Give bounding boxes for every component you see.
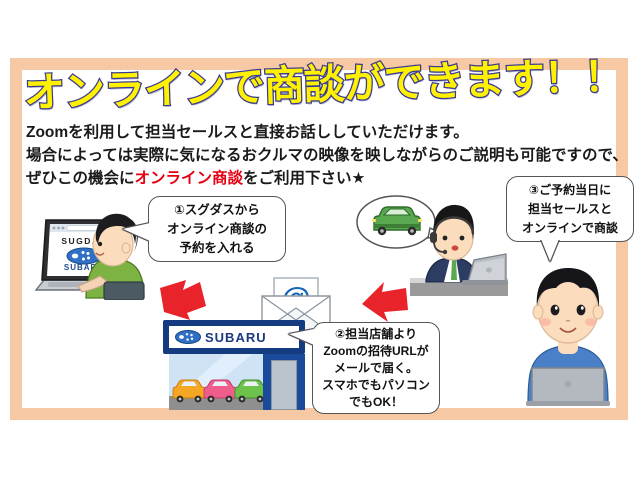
bubble-tail-step3 xyxy=(541,239,559,261)
body-line-2: 場合によっては実際に気になるおクルマの映像を映しながらのご説明も可能ですので、 xyxy=(26,144,606,167)
bubble-step1-line-2: オンライン商談の xyxy=(149,220,285,239)
bubble-tail-step1 xyxy=(123,223,150,241)
illustration-person-laptop: SUGDAS SUBARU xyxy=(22,196,154,300)
speech-bubble-step2: ②担当店舗より Zoomの招待URLが メールで届く。 スマホでもパソコン でも… xyxy=(312,322,440,414)
body-line-3-pre: ぜひこの機会に xyxy=(26,170,135,187)
bubble-step3-line-2: 担当セールスと xyxy=(507,200,633,219)
bubble-step2-line-3: メールで届く。 xyxy=(313,360,439,377)
bubble-step2-line-1: ②担当店舗より xyxy=(313,326,439,343)
subaru-logo-icon xyxy=(175,330,201,344)
bubble-step1-line-1: ①スグダスから xyxy=(149,201,285,220)
illustration-customer-laptop xyxy=(508,262,628,414)
speech-bubble-step1: ①スグダスから オンライン商談の 予約を入れる xyxy=(148,196,286,262)
shop-entrance-glass xyxy=(271,360,297,410)
bubble-step3-line-3: オンラインで商談 xyxy=(507,219,633,238)
bubble-step2-line-4: スマホでもパソコン xyxy=(313,377,439,394)
bubble-step3-line-1: ③ご予約当日に xyxy=(507,181,633,200)
red-arrow-down-right-icon xyxy=(156,276,212,322)
body-line-3-post: をご利用下さい★ xyxy=(243,170,365,187)
shop-sign-text: SUBARU xyxy=(205,330,267,345)
shop-sign: SUBARU xyxy=(163,320,305,354)
body-line-1: Zoomを利用して担当セールスと直接お話ししていただけます。 xyxy=(26,121,606,144)
shop-sign-panel: SUBARU xyxy=(169,326,299,348)
body-line-3-highlight: オンライン商談 xyxy=(135,170,244,187)
bubble-step2-line-2: Zoomの招待URLが xyxy=(313,343,439,360)
bubble-step2-line-5: でもOK！ xyxy=(313,394,439,411)
poster-root: オンラインで商談ができます！！ Zoomを利用して担当セールスと直接お話ししてい… xyxy=(0,0,640,480)
bubble-step1-line-3: 予約を入れる xyxy=(149,239,285,258)
red-arrow-up-left-icon xyxy=(358,280,414,326)
speech-bubble-step3: ③ご予約当日に 担当セールスと オンラインで商談 xyxy=(506,176,634,242)
bubble-tail-step2 xyxy=(289,329,314,345)
shop-cars xyxy=(171,378,267,404)
illustration-subaru-dealership: SUBARU xyxy=(163,320,305,410)
